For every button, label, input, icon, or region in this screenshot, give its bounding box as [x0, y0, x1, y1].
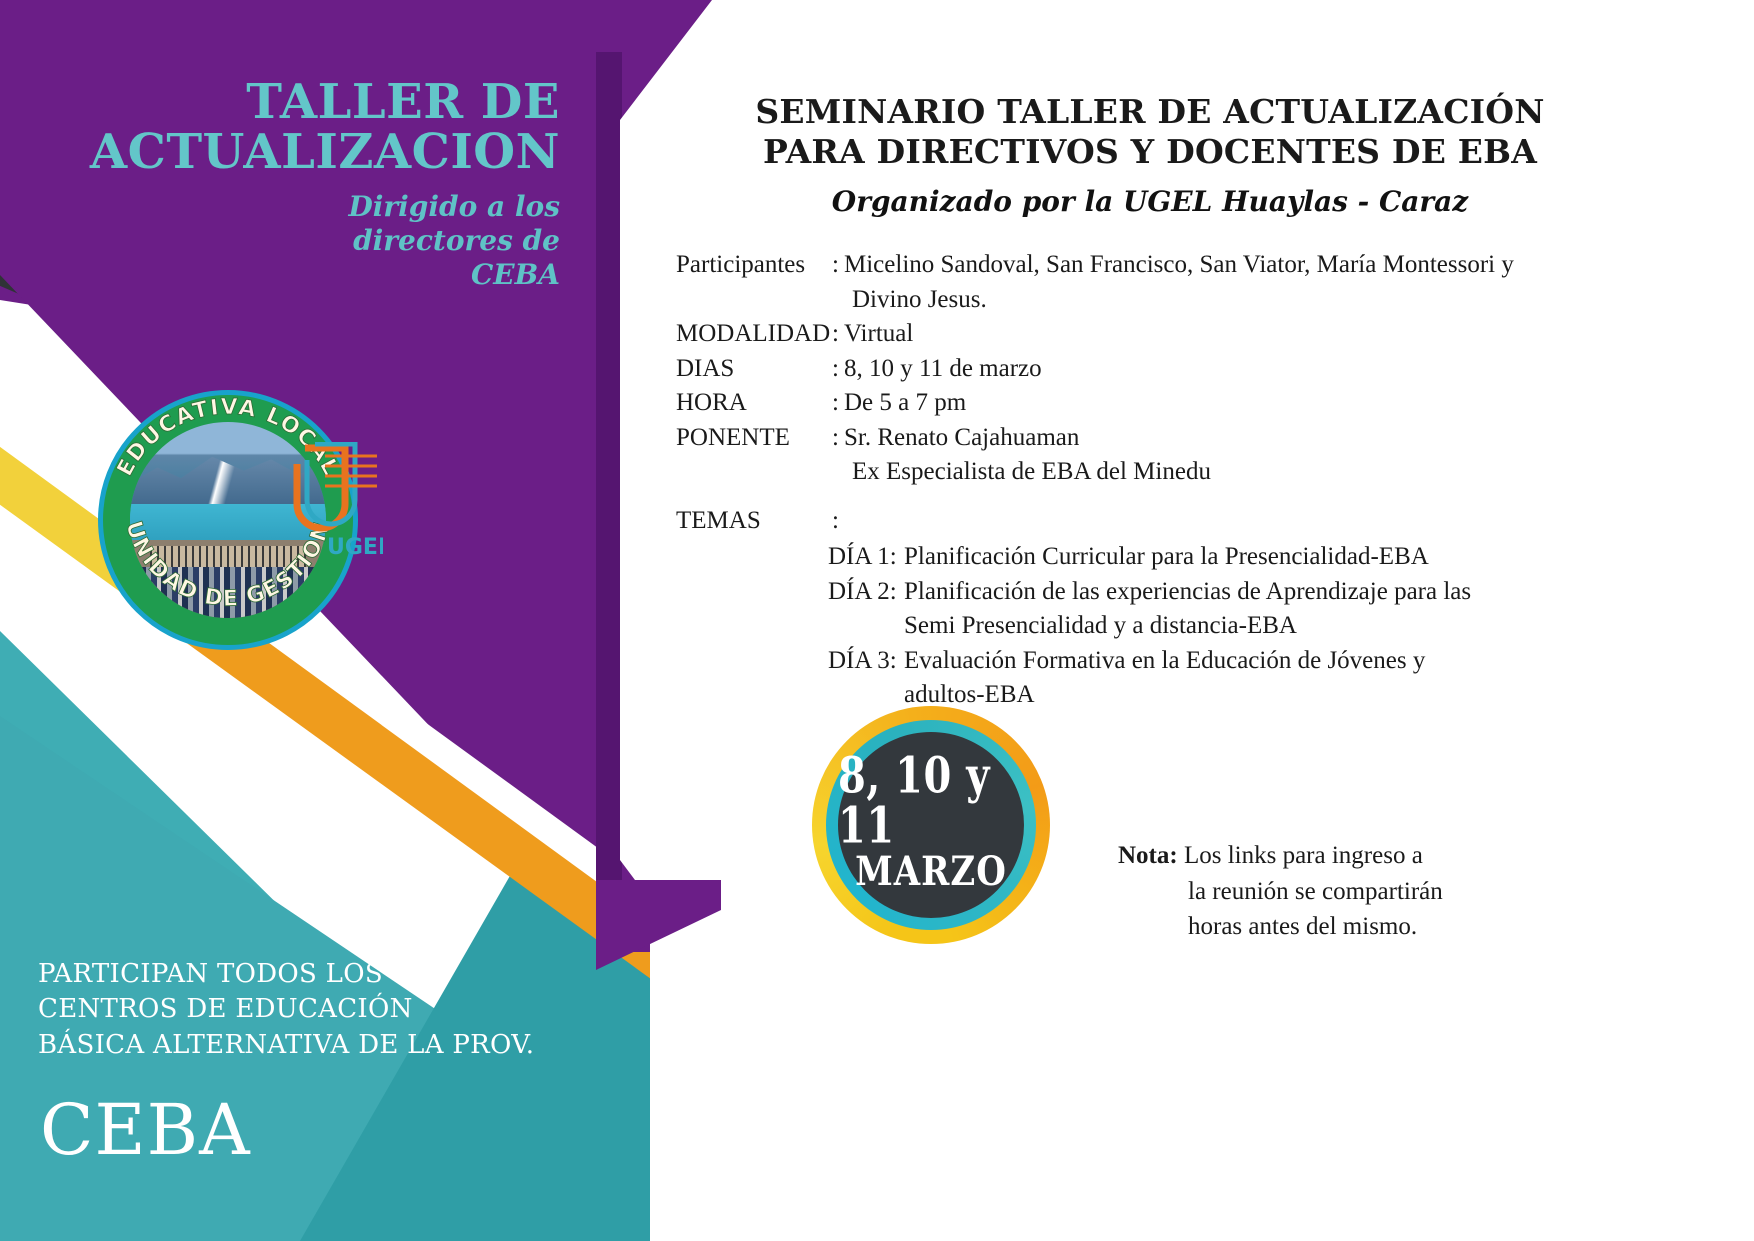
seminar-organizer: Organizado por la UGEL Huaylas - Caraz — [720, 185, 1580, 218]
tema-day-label: DÍA 3: — [828, 644, 904, 679]
footer-text-block: PARTICIPAN TODOS LOS CENTROS DE EDUCACIÓ… — [38, 957, 558, 1063]
nota-line-1: Los links para ingreso a — [1184, 842, 1423, 869]
badge-days-text: 8, 10 y 11 — [838, 751, 1024, 851]
logo-emblem-icon: UGEL — [291, 442, 383, 562]
detail-colon: : — [832, 317, 844, 352]
detail-value-modalidad: Virtual — [844, 317, 1556, 352]
tema-row: DÍA 2: Planificación de las experiencias… — [828, 575, 1556, 610]
detail-value-ponente: Sr. Renato Cajahuaman — [844, 421, 1556, 456]
subheadline-line-3: CEBA — [200, 258, 560, 292]
detail-value-dias: 8, 10 y 11 de marzo — [844, 352, 1556, 387]
logo-students-icon — [130, 567, 326, 618]
detail-label-modalidad: MODALIDAD — [676, 317, 832, 352]
footer-line-2: CENTROS DE EDUCACIÓN — [38, 992, 558, 1027]
detail-row-ponente: PONENTE : Sr. Renato Cajahuaman — [676, 421, 1556, 456]
tema-day-text: Planificación Curricular para la Presenc… — [904, 540, 1556, 575]
nota-first-line: Nota: Los links para ingreso a — [1118, 838, 1518, 874]
logo-emblem-label: UGEL — [327, 535, 383, 560]
detail-label-hora: HORA — [676, 386, 832, 421]
tema-day-text-cont: Semi Presencialidad y a distancia-EBA — [904, 609, 1556, 644]
poster-subheadline: Dirigido a los directores de CEBA — [200, 190, 560, 292]
detail-label-dias: DIAS — [676, 352, 832, 387]
detail-colon: : — [832, 504, 844, 539]
nota-label: Nota: — [1118, 842, 1178, 869]
tema-day-label: DÍA 2: — [828, 575, 904, 610]
date-badge: 8, 10 y 11 MARZO — [812, 706, 1050, 944]
headline-line-1: TALLER DE — [60, 78, 560, 128]
seminar-title-line-1: SEMINARIO TALLER DE ACTUALIZACIÓN — [720, 92, 1580, 132]
detail-colon: : — [832, 248, 844, 283]
tema-day-text: Evaluación Formativa en la Educación de … — [904, 644, 1556, 679]
badge-core: 8, 10 y 11 MARZO — [838, 732, 1024, 918]
detail-row-hora: HORA : De 5 a 7 pm — [676, 386, 1556, 421]
detail-row-participantes: Participantes : Micelino Sandoval, San F… — [676, 248, 1556, 283]
nota-line-2: la reunión se compartirán — [1188, 874, 1518, 910]
detail-value-participantes: Micelino Sandoval, San Francisco, San Vi… — [844, 248, 1556, 283]
headline-line-2: ACTUALIZACION — [60, 128, 560, 178]
subheadline-line-2: directores de — [200, 224, 560, 258]
poster-headline: TALLER DE ACTUALIZACION — [60, 78, 560, 178]
tema-row: DÍA 3: Evaluación Formativa en la Educac… — [828, 644, 1556, 679]
nota-line-3: horas antes del mismo. — [1188, 909, 1518, 945]
footer-line-1: PARTICIPAN TODOS LOS — [38, 957, 558, 992]
badge-month-text: MARZO — [855, 852, 1007, 892]
tema-day-text: Planificación de las experiencias de Apr… — [904, 575, 1556, 610]
detail-label-participantes: Participantes — [676, 248, 832, 283]
footer-line-3: BÁSICA ALTERNATIVA DE LA PROV. — [38, 1028, 558, 1063]
footer-ceba-wordmark: CEBA — [40, 1089, 251, 1171]
detail-row-temas: TEMAS : — [676, 504, 1556, 539]
detail-colon: : — [832, 352, 844, 387]
subheadline-line-1: Dirigido a los — [200, 190, 560, 224]
temas-day-list: DÍA 1: Planificación Curricular para la … — [676, 540, 1556, 713]
tema-row: DÍA 1: Planificación Curricular para la … — [828, 540, 1556, 575]
seminar-details-list: Participantes : Micelino Sandoval, San F… — [676, 248, 1556, 713]
detail-colon: : — [832, 386, 844, 421]
detail-value-participantes-cont: Divino Jesus. — [852, 283, 1556, 318]
detail-colon: : — [832, 421, 844, 456]
nota-block: Nota: Los links para ingreso a la reunió… — [1118, 838, 1518, 945]
detail-value-hora: De 5 a 7 pm — [844, 386, 1556, 421]
detail-row-dias: DIAS : 8, 10 y 11 de marzo — [676, 352, 1556, 387]
seminar-title-line-2: PARA DIRECTIVOS Y DOCENTES DE EBA — [720, 132, 1580, 172]
ugel-logo: EDUCATIVA LOCAL UNIDAD DE GESTION UGEL — [98, 390, 383, 650]
detail-label-ponente: PONENTE — [676, 421, 832, 456]
tema-day-label: DÍA 1: — [828, 540, 904, 575]
seminar-title-block: SEMINARIO TALLER DE ACTUALIZACIÓN PARA D… — [720, 92, 1580, 218]
detail-value-ponente-cont: Ex Especialista de EBA del Minedu — [852, 455, 1556, 490]
card-bevel-shadow — [596, 52, 622, 952]
detail-row-modalidad: MODALIDAD : Virtual — [676, 317, 1556, 352]
poster-canvas: TALLER DE ACTUALIZACION Dirigido a los d… — [0, 0, 1754, 1241]
detail-label-temas: TEMAS — [676, 504, 832, 539]
